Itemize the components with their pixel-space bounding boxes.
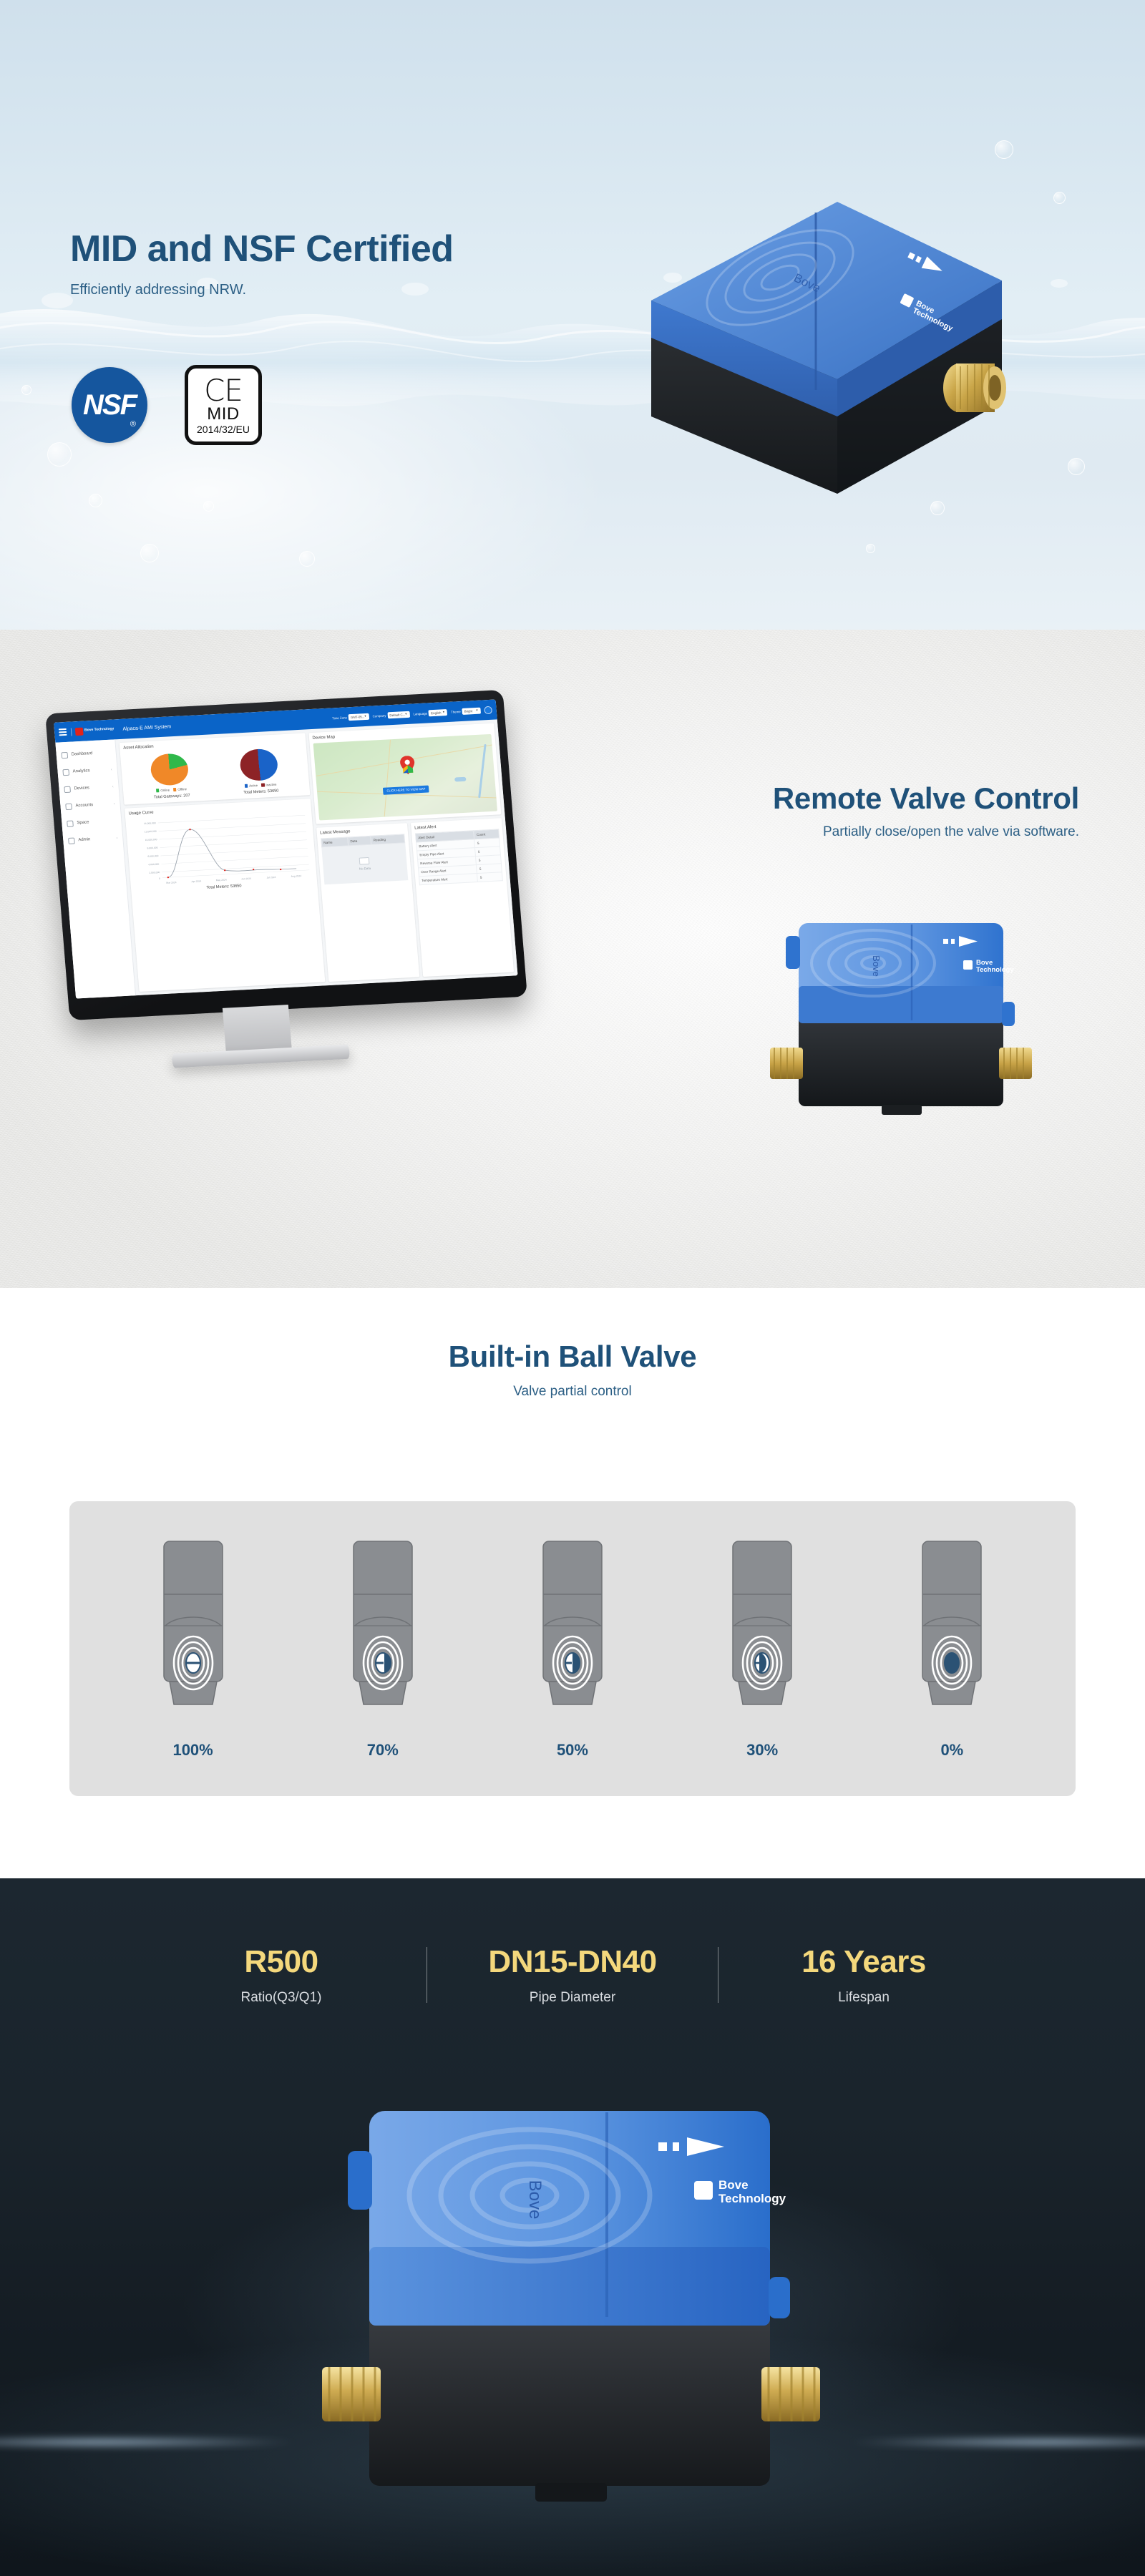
hero-water-meter-product: Bove Bove Technology <box>601 122 1059 522</box>
brass-inlet-left <box>322 2367 381 2421</box>
timezone-control[interactable]: Time Zone GMT-05... ▾ <box>332 713 369 721</box>
bove-logo-icon <box>75 727 84 736</box>
dashboard-right-column: Device Map <box>308 723 514 982</box>
svg-text:2,000,000: 2,000,000 <box>149 871 160 874</box>
left-glow-decoration <box>0 2436 301 2448</box>
legend-label: Inactive <box>265 783 277 787</box>
legend-label: Active <box>249 784 258 788</box>
ami-dashboard: Bove Technology Alpaca-E AMI System Time… <box>54 699 517 998</box>
company-label: Company <box>372 713 386 718</box>
chevron-down-icon: ▾ <box>476 708 478 713</box>
total-gateways: Total Gateways: 207 <box>153 794 190 800</box>
legend-label: Offline <box>177 787 187 791</box>
spec-value: R500 <box>163 1944 399 1980</box>
ball-valve-header: Built-in Ball Valve Valve partial contro… <box>0 1288 1145 1400</box>
spec-label: Ratio(Q3/Q1) <box>163 1990 399 2006</box>
remote-valve-subtitle: Partially close/open the valve via softw… <box>773 824 1079 840</box>
water-meter-front-illustration: Bove Bove Technology <box>759 894 1045 1131</box>
spec-divider <box>718 1947 718 2003</box>
spec-highlights: R500 Ratio(Q3/Q1) DN15-DN40 Pipe Diamete… <box>0 1944 1145 2006</box>
registered-trademark-icon: ® <box>130 420 136 429</box>
asset-allocation-charts: Online Offline Total Gateways: 207 <box>124 744 306 801</box>
timezone-label: Time Zone <box>332 716 347 720</box>
chevron-right-icon: ‹ <box>116 836 117 840</box>
nsf-certification-badge: NSF ® <box>72 367 147 443</box>
language-control[interactable]: Language English ▾ <box>413 709 447 717</box>
language-label: Language <box>413 711 427 716</box>
svg-text:Technology: Technology <box>718 2192 786 2205</box>
sidebar-item-label: Dashboard <box>72 751 93 757</box>
chevron-right-icon: ‹ <box>112 785 114 789</box>
theme-select[interactable]: Bright ▾ <box>462 707 481 714</box>
valve-diagram-100-icon <box>152 1538 234 1707</box>
dashboard-left-column: Asset Allocation Online <box>120 733 325 991</box>
hero-subtitle: Efficiently addressing NRW. <box>70 282 614 298</box>
valve-state-50: 50% <box>508 1538 637 1760</box>
accounts-icon <box>65 803 72 809</box>
svg-text:14,000,000: 14,000,000 <box>144 821 156 825</box>
dashboard-main: Asset Allocation Online <box>115 719 517 995</box>
company-select[interactable]: Default C... ▾ <box>387 711 410 718</box>
spec-pipe-diameter: DN15-DN40 Pipe Diameter <box>454 1944 691 2006</box>
specs-water-meter-product: Bove Bove Technology <box>308 2068 837 2526</box>
map-pin-icon <box>399 756 416 776</box>
spec-lifespan: 16 Years Lifespan <box>746 1944 982 2006</box>
space-icon <box>67 820 74 826</box>
monitor-screen: Bove Technology Alpaca-E AMI System Time… <box>54 699 517 998</box>
valve-percent-label: 50% <box>508 1741 637 1760</box>
theme-control[interactable]: Theme Bright ▾ <box>451 707 481 715</box>
desktop-monitor: Bove Technology Alpaca-E AMI System Time… <box>45 690 527 1020</box>
chevron-down-icon: ▾ <box>443 710 445 714</box>
latest-alert-card: Latest Alert Alert Detail Count <box>411 818 514 977</box>
valve-percent-label: 100% <box>129 1741 258 1760</box>
sidebar-item-label: Space <box>77 820 89 825</box>
column-header: Data <box>348 836 371 846</box>
svg-text:Jul 2024: Jul 2024 <box>267 876 276 879</box>
product-landing-page: Bove Bove Technology <box>0 0 1145 2576</box>
svg-text:6,000,000: 6,000,000 <box>147 854 158 858</box>
specifications-section: R500 Ratio(Q3/Q1) DN15-DN40 Pipe Diamete… <box>0 1878 1145 2576</box>
valve-percent-label: 30% <box>698 1741 827 1760</box>
nsf-badge-label: NSF <box>83 389 136 421</box>
ball-valve-title: Built-in Ball Valve <box>0 1340 1145 1374</box>
svg-text:4,000,000: 4,000,000 <box>148 863 159 867</box>
brass-outlet <box>999 1048 1032 1079</box>
brass-outlet-right <box>761 2367 820 2421</box>
dashboard-body: Dashboard Analytics ‹ Devices <box>55 719 517 998</box>
empty-inbox-icon <box>359 857 370 865</box>
asset-allocation-card: Asset Allocation Online <box>120 733 310 804</box>
meters-legend: Active Inactive <box>242 782 279 788</box>
chevron-down-icon: ▾ <box>405 712 407 716</box>
svg-text:Jun 2024: Jun 2024 <box>241 877 251 881</box>
alert-count: 5 <box>477 872 502 882</box>
company-control[interactable]: Company Default C... ▾ <box>372 711 410 719</box>
sidebar-item-admin[interactable]: Admin ‹ <box>62 829 123 849</box>
theme-label: Theme <box>451 710 461 714</box>
valve-percent-label: 70% <box>318 1741 447 1760</box>
message-alert-row: Latest Message Name Data Reading <box>316 818 515 982</box>
usage-curve-svg: 14,000,00012,000,000 10,000,0008,000,000… <box>129 809 313 887</box>
svg-text:Bove: Bove <box>718 2178 749 2192</box>
water-meter-illustration: Bove Bove Technology <box>601 122 1059 522</box>
spec-value: 16 Years <box>746 1944 982 1980</box>
svg-text:10,000,000: 10,000,000 <box>145 838 157 841</box>
device-map-card: Device Map <box>308 723 502 824</box>
valve-state-70: 70% <box>318 1538 447 1760</box>
empty-state-text: No Data <box>359 867 371 871</box>
hero-title: MID and NSF Certified <box>70 228 614 270</box>
dashboard-controls: Time Zone GMT-05... ▾ Company D <box>332 706 492 722</box>
spec-label: Lifespan <box>746 1990 982 2006</box>
dashboard-logo: Bove Technology <box>71 726 114 736</box>
usage-curve-chart: 14,000,00012,000,000 10,000,0008,000,000… <box>129 809 313 887</box>
valve-percent-label: 0% <box>887 1741 1016 1760</box>
right-glow-decoration <box>844 2436 1145 2448</box>
company-value: Default C... <box>389 713 405 717</box>
svg-text:12,000,000: 12,000,000 <box>145 830 157 834</box>
valve-diagram-70-icon <box>342 1538 424 1707</box>
monitor-bezel: Bove Technology Alpaca-E AMI System Time… <box>45 690 527 1020</box>
svg-text:0: 0 <box>159 877 160 880</box>
spec-ratio: R500 Ratio(Q3/Q1) <box>163 1944 399 2006</box>
valve-state-30: 30% <box>698 1538 827 1760</box>
sidebar-item-label: Analytics <box>72 769 89 774</box>
remote-valve-title: Remote Valve Control <box>773 781 1079 816</box>
svg-text:May 2024: May 2024 <box>216 879 227 882</box>
gateways-pie <box>150 753 190 786</box>
hero-text-block: MID and NSF Certified Efficiently addres… <box>70 228 614 298</box>
language-select[interactable]: English ▾ <box>429 709 448 716</box>
spec-value: DN15-DN40 <box>454 1944 691 1980</box>
mid-label: MID <box>207 406 240 423</box>
language-value: English <box>431 711 442 715</box>
valve-state-0: 0% <box>887 1538 1016 1760</box>
map-pin-svg <box>399 756 416 775</box>
latest-alert-table: Alert Detail Count Battery Alert 5 <box>415 829 503 885</box>
svg-text:Technology: Technology <box>976 966 1014 974</box>
timezone-select[interactable]: GMT-05... ▾ <box>349 713 369 720</box>
svg-text:Mar 2024: Mar 2024 <box>166 881 177 884</box>
spec-divider <box>427 1947 427 2003</box>
certification-badges: NSF ® CE MID 2014/32/EU <box>72 365 262 445</box>
legend-online: Online <box>156 788 170 792</box>
theme-value: Bright <box>464 709 472 713</box>
avatar[interactable] <box>484 706 492 714</box>
admin-icon <box>68 837 75 844</box>
chevron-down-icon: ▾ <box>364 714 366 718</box>
remote-valve-product: Bove Bove Technology <box>759 894 1045 1131</box>
remote-valve-control-section: Bove Technology Alpaca-E AMI System Time… <box>0 630 1145 1288</box>
legend-offline: Offline <box>173 787 187 791</box>
usage-curve-card: Usage Curve <box>125 799 325 992</box>
meters-pie-chart: Active Inactive Total Meters: 53650 <box>239 748 280 796</box>
empty-state: No Data <box>321 843 408 884</box>
ce-mid-marking: CE MID 2014/32/EU <box>185 365 262 445</box>
dashboard-icon <box>61 751 68 758</box>
svg-text:8,000,000: 8,000,000 <box>147 847 157 850</box>
remote-valve-text-block: Remote Valve Control Partially close/ope… <box>773 781 1079 840</box>
legend-label: Online <box>160 788 170 792</box>
total-meters: Total Meters: 53650 <box>243 789 280 795</box>
gateways-pie-chart: Online Offline Total Gateways: 207 <box>150 753 191 800</box>
svg-text:Bove: Bove <box>525 2180 545 2220</box>
legend-active: Active <box>245 784 258 788</box>
menu-hamburger-icon[interactable] <box>59 728 67 736</box>
svg-text:Aug 2024: Aug 2024 <box>291 874 302 878</box>
valve-diagram-30-icon <box>721 1538 803 1707</box>
spec-label: Pipe Diameter <box>454 1990 691 2006</box>
chevron-right-icon: ‹ <box>114 801 115 806</box>
devices-icon <box>64 786 71 792</box>
gateways-legend: Online Offline <box>152 787 190 793</box>
ball-valve-subtitle: Valve partial control <box>0 1384 1145 1400</box>
sidebar-item-label: Admin <box>78 837 90 842</box>
valve-states-panel: 100% 70% <box>69 1501 1076 1796</box>
valve-state-100: 100% <box>129 1538 258 1760</box>
meters-pie <box>239 748 278 782</box>
svg-text:Apr 2024: Apr 2024 <box>191 879 201 883</box>
latest-message-card: Latest Message Name Data Reading <box>316 823 419 982</box>
legend-inactive: Inactive <box>261 783 277 787</box>
dashboard-logo-label: Bove Technology <box>84 728 114 733</box>
hero-section: Bove Bove Technology <box>0 0 1145 630</box>
system-name: Alpaca-E AMI System <box>122 724 171 732</box>
svg-text:Bove: Bove <box>871 955 882 977</box>
analytics-icon <box>62 769 69 775</box>
brass-inlet <box>770 1048 803 1079</box>
valve-diagram-50-icon <box>532 1538 613 1707</box>
water-meter-front-large-illustration: Bove Bove Technology <box>308 2068 837 2526</box>
eu-directive-label: 2014/32/EU <box>197 424 250 435</box>
sidebar-item-label: Devices <box>74 786 89 791</box>
ce-glyph: CE <box>204 376 243 405</box>
sidebar-item-label: Accounts <box>75 803 93 808</box>
ball-valve-section: Built-in Ball Valve Valve partial contro… <box>0 1288 1145 1878</box>
chevron-right-icon: ‹ <box>111 768 112 772</box>
valve-diagram-0-icon <box>911 1538 993 1707</box>
timezone-value: GMT-05... <box>351 715 365 719</box>
device-map[interactable]: CLICK HERE TO VIEW MAP <box>313 734 497 821</box>
view-map-button[interactable]: CLICK HERE TO VIEW MAP <box>383 785 429 794</box>
